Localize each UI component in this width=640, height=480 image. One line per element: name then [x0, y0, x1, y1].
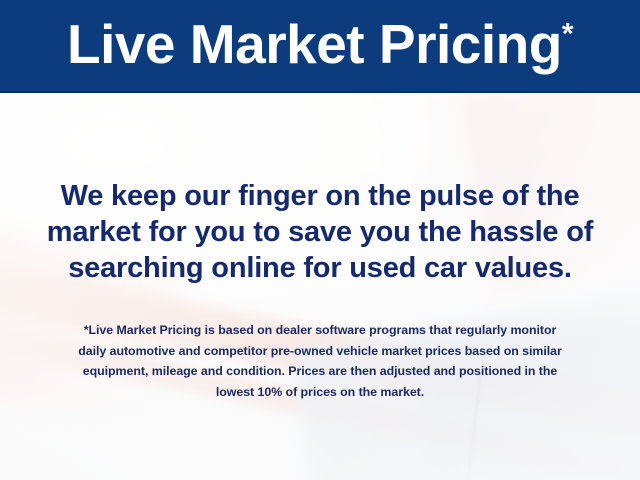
headline-line-2: market for you to save you the hassle of — [0, 214, 640, 250]
disclaimer-fineprint: *Live Market Pricing is based on dealer … — [30, 320, 610, 402]
page-title: Live Market Pricing* — [67, 17, 573, 76]
header-bottom-hairline — [0, 91, 640, 93]
fineprint-line-3: equipment, mileage and condition. Prices… — [30, 361, 610, 382]
headline-line-1: We keep our finger on the pulse of the — [0, 178, 640, 214]
fineprint-line-2: daily automotive and competitor pre-owne… — [30, 341, 610, 362]
headline: We keep our finger on the pulse of the m… — [0, 178, 640, 286]
headline-line-3: searching online for used car values. — [0, 250, 640, 286]
title-asterisk: * — [562, 18, 573, 51]
live-market-pricing-slide: Live Market Pricing* We keep our finger … — [0, 0, 640, 480]
page-title-text: Live Market Pricing — [67, 13, 562, 75]
fineprint-line-1: *Live Market Pricing is based on dealer … — [30, 320, 610, 341]
fineprint-line-4: lowest 10% of prices on the market. — [30, 382, 610, 403]
header-band: Live Market Pricing* — [0, 0, 640, 93]
